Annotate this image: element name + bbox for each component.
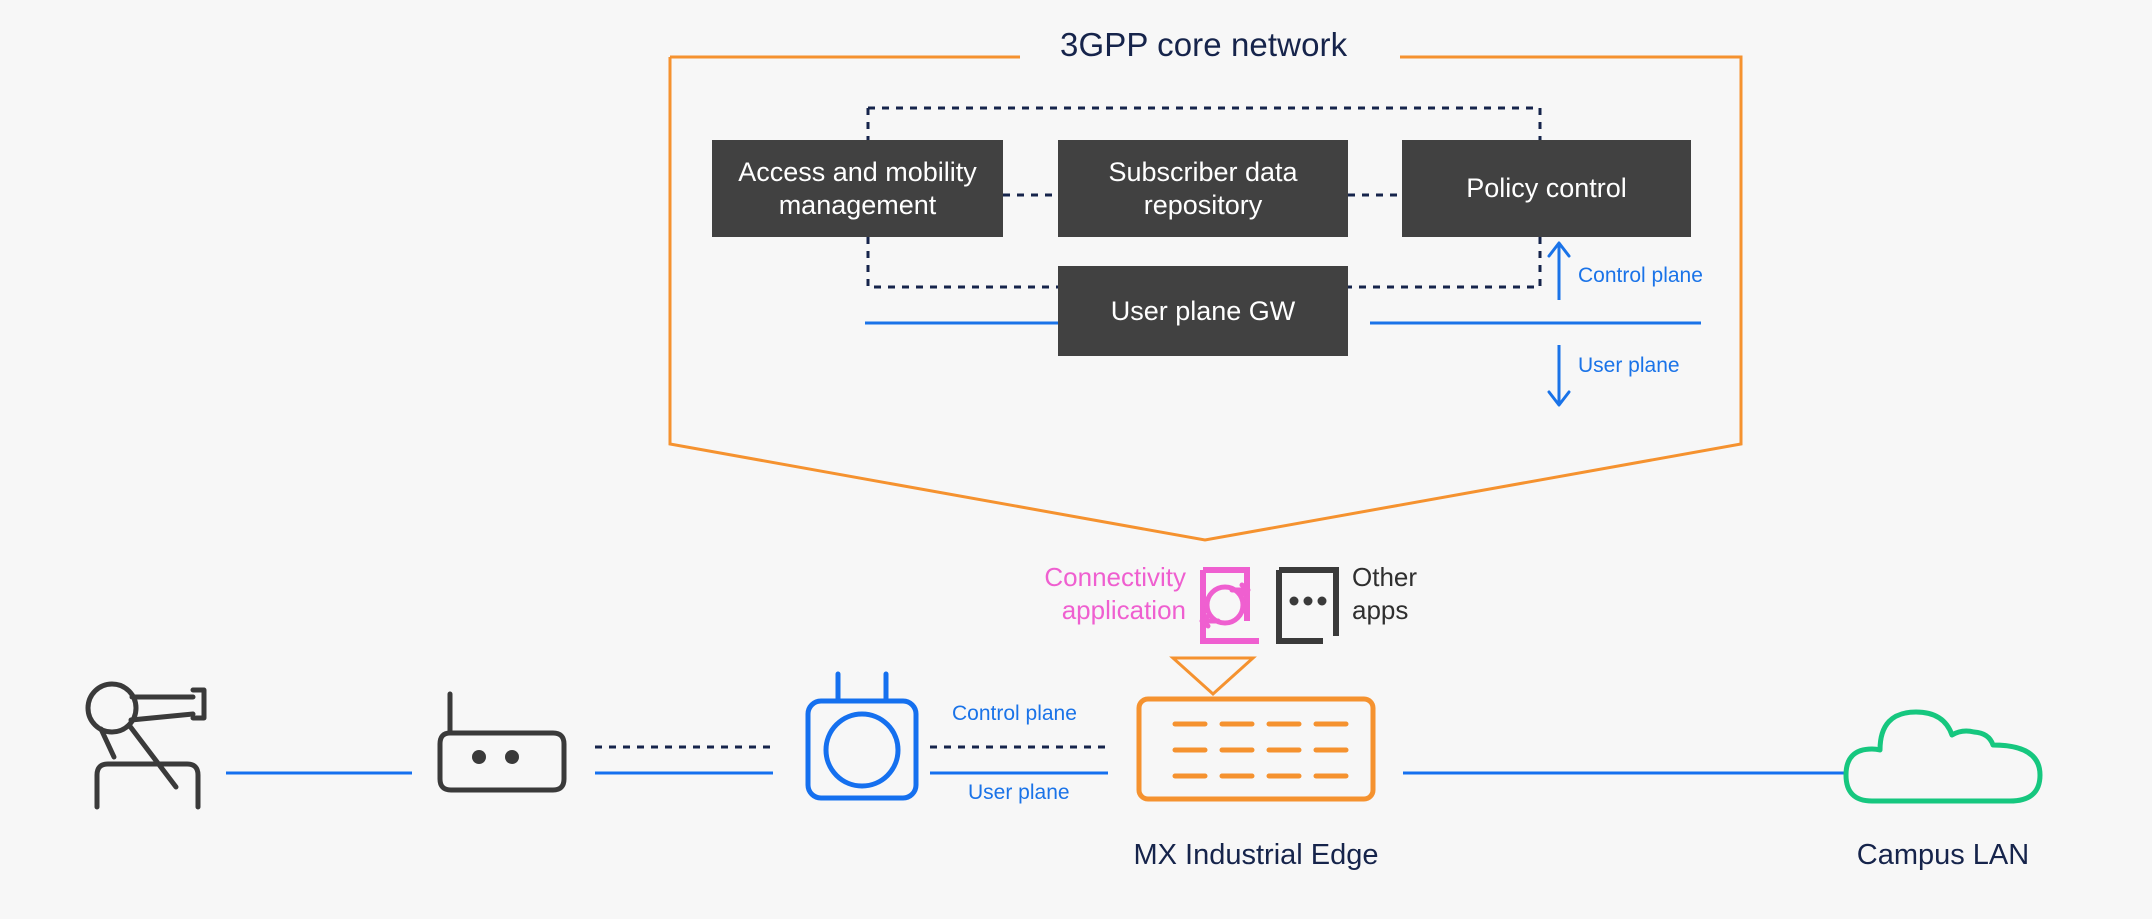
core-box-subscriber-data-repository[interactable]: Subscriber data repository bbox=[1058, 140, 1348, 237]
radio-unit-icon bbox=[808, 674, 916, 798]
core-box-label: User plane GW bbox=[1111, 295, 1296, 328]
cloud-icon bbox=[1846, 712, 2040, 801]
link-pcf-to-upgw bbox=[1348, 237, 1540, 287]
robot-arm-icon bbox=[88, 684, 204, 807]
other-apps-label: Other apps bbox=[1352, 561, 1417, 626]
network-architecture-diagram: 3GPP core network Access and mobility ma… bbox=[0, 0, 2152, 919]
core-box-policy-control[interactable]: Policy control bbox=[1402, 140, 1691, 237]
core-box-label: Policy control bbox=[1466, 172, 1627, 205]
diagram-vector-layer bbox=[0, 0, 2152, 919]
core-box-access-mobility-management[interactable]: Access and mobility management bbox=[712, 140, 1003, 237]
industrial-router-icon bbox=[440, 694, 564, 790]
core-legend-control-plane: Control plane bbox=[1578, 264, 1703, 289]
core-network-title: 3GPP core network bbox=[1060, 26, 1347, 65]
edge-label: MX Industrial Edge bbox=[1116, 838, 1396, 872]
control-plane-arrow bbox=[1549, 243, 1569, 300]
core-box-label: Subscriber data repository bbox=[1058, 156, 1348, 222]
user-plane-arrow bbox=[1549, 345, 1569, 405]
other-apps-icon bbox=[1279, 570, 1336, 641]
connectivity-app-icon bbox=[1202, 570, 1259, 641]
link-label-control-plane: Control plane bbox=[952, 702, 1077, 727]
core-legend-user-plane: User plane bbox=[1578, 354, 1680, 379]
campus-lan-label: Campus LAN bbox=[1803, 838, 2083, 872]
apps-to-edge-funnel bbox=[1173, 658, 1253, 694]
edge-server-icon bbox=[1139, 699, 1373, 799]
connectivity-application-label: Connectivity application bbox=[950, 561, 1186, 626]
core-box-user-plane-gw[interactable]: User plane GW bbox=[1058, 266, 1348, 356]
core-box-label: Access and mobility management bbox=[712, 156, 1003, 222]
link-label-user-plane: User plane bbox=[968, 781, 1070, 806]
link-amf-to-upgw bbox=[868, 237, 1058, 287]
